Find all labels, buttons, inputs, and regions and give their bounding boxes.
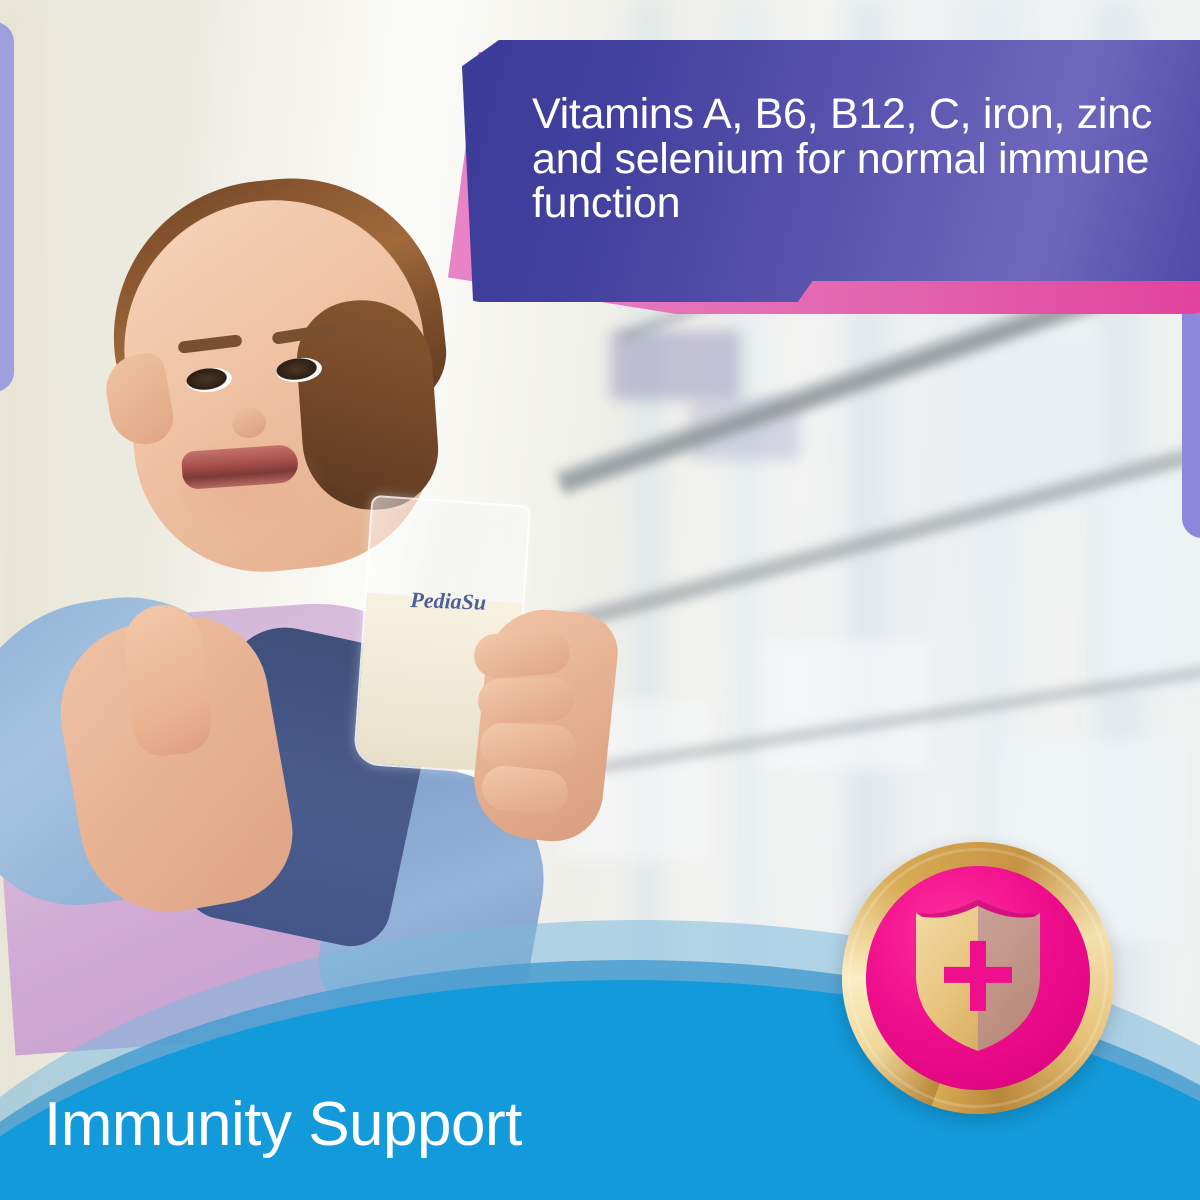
immunity-medal — [842, 842, 1114, 1114]
child-finger — [479, 722, 576, 769]
headline-banner: Vitamins A, B6, B12, C, iron, zinc and s… — [0, 0, 1200, 340]
child-finger — [477, 676, 574, 723]
shield-plus-icon — [912, 897, 1044, 1053]
banner-headline-text: Vitamins A, B6, B12, C, iron, zinc and s… — [532, 92, 1152, 226]
footer-label: Immunity Support — [44, 1089, 522, 1160]
banner-purple-panel: Vitamins A, B6, B12, C, iron, zinc and s… — [462, 40, 1200, 302]
shelf-product-block — [760, 640, 930, 770]
pediasure-logo: PediaSu — [410, 587, 487, 616]
promo-banner-stage: PediaSu Vitamins A, B6, B12, C, iron, zi… — [0, 0, 1200, 1200]
child-finger — [473, 629, 572, 680]
